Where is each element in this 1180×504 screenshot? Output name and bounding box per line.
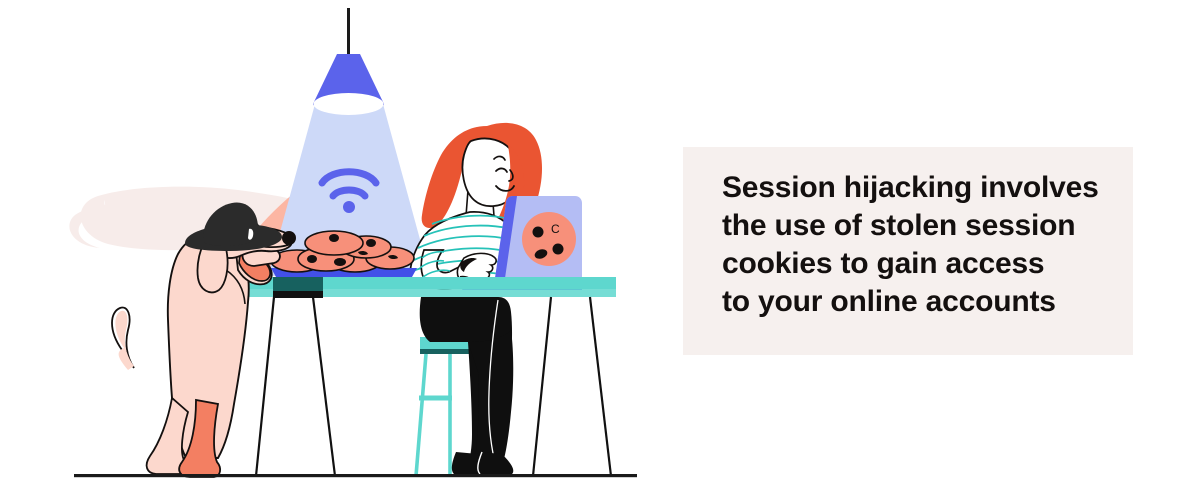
lamp-cord [347, 8, 350, 54]
screenshot-canvas: C [0, 0, 1180, 499]
floor-line [74, 474, 637, 477]
callout-panel: Session hijacking involves the use of st… [683, 147, 1133, 355]
cookie-sticker [522, 212, 576, 266]
cookie-sticker-chip-2 [553, 244, 564, 255]
callout-text: Session hijacking involves the use of st… [722, 169, 1112, 321]
cookie-chip [334, 258, 346, 266]
dog-tail-fill [115, 311, 134, 370]
illustration-session-hijacking: C [0, 0, 680, 499]
lamp-glow [314, 93, 384, 115]
cookie-sticker-letter: C [551, 222, 560, 236]
dog-nose [282, 231, 296, 245]
wifi-icon-dot [343, 201, 355, 213]
desk-step-shadow [273, 291, 323, 298]
cookie-chip [307, 255, 317, 263]
stool-legs [416, 354, 452, 476]
desk-step-dark [273, 277, 323, 291]
cookie-chip [366, 239, 376, 247]
stool-seat-shadow [420, 349, 472, 354]
illustration-svg: C [0, 0, 680, 499]
cookie-chip [329, 234, 339, 242]
cookie-sticker-chip-1 [533, 227, 544, 238]
